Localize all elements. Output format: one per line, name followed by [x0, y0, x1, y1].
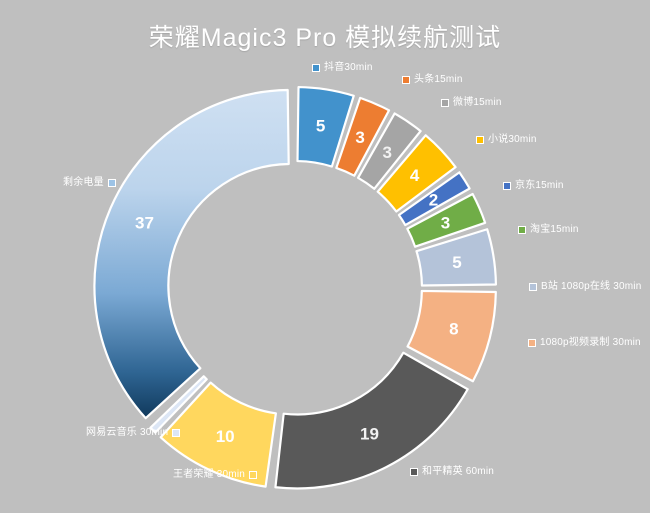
legend-swatch-taobao	[518, 226, 526, 234]
legend-item-novel[interactable]: 小说30min	[476, 135, 537, 145]
slice-value-remaining: 37	[135, 213, 154, 232]
slice-remaining[interactable]	[94, 90, 288, 418]
legend-swatch-douyin	[312, 64, 320, 72]
slice-value-toutiao: 3	[355, 128, 364, 147]
legend-label-novel: 小说30min	[488, 135, 537, 145]
legend-label-netease-music: 网易云音乐 30min	[86, 428, 168, 438]
slice-value-pubg: 19	[360, 425, 379, 444]
legend-swatch-honor-of-kings	[249, 471, 257, 479]
slice-value-douyin: 5	[316, 117, 325, 136]
legend-swatch-record	[528, 339, 536, 347]
legend-label-honor-of-kings: 王者荣耀 30min	[173, 470, 245, 480]
legend-swatch-jd	[503, 182, 511, 190]
legend-swatch-pubg	[410, 468, 418, 476]
legend-item-douyin[interactable]: 抖音30min	[312, 63, 373, 73]
legend-item-toutiao[interactable]: 头条15min	[402, 75, 463, 85]
legend-item-weibo[interactable]: 微博15min	[441, 98, 502, 108]
legend-label-bilibili: B站 1080p在线 30min	[541, 282, 641, 292]
slice-value-bilibili: 5	[452, 253, 461, 272]
chart-canvas: 荣耀Magic3 Pro 模拟续航测试 53342358191037 抖音30m…	[0, 0, 650, 513]
slice-value-novel: 4	[410, 166, 420, 185]
legend-item-netease-music[interactable]: 网易云音乐 30min	[86, 428, 180, 438]
slice-value-taobao: 3	[441, 213, 450, 232]
legend-item-jd[interactable]: 京东15min	[503, 181, 564, 191]
slice-value-jd: 2	[429, 191, 438, 210]
legend-item-record[interactable]: 1080p视频录制 30min	[528, 338, 641, 348]
legend-item-remaining[interactable]: 剩余电量	[63, 178, 116, 188]
legend-label-record: 1080p视频录制 30min	[540, 338, 641, 348]
legend-swatch-novel	[476, 136, 484, 144]
legend-swatch-toutiao	[402, 76, 410, 84]
legend-swatch-bilibili	[529, 283, 537, 291]
legend-swatch-weibo	[441, 99, 449, 107]
legend-item-honor-of-kings[interactable]: 王者荣耀 30min	[173, 470, 257, 480]
slice-value-weibo: 3	[382, 143, 391, 162]
legend-item-taobao[interactable]: 淘宝15min	[518, 225, 579, 235]
legend-label-pubg: 和平精英 60min	[422, 467, 494, 477]
legend-item-pubg[interactable]: 和平精英 60min	[410, 467, 494, 477]
legend-label-toutiao: 头条15min	[414, 75, 463, 85]
legend-label-remaining: 剩余电量	[63, 178, 104, 188]
legend-item-bilibili[interactable]: B站 1080p在线 30min	[529, 282, 641, 292]
legend-swatch-remaining	[108, 179, 116, 187]
legend-label-taobao: 淘宝15min	[530, 225, 579, 235]
legend-label-douyin: 抖音30min	[324, 63, 373, 73]
slice-value-honor_of_kings: 10	[216, 427, 235, 446]
legend-swatch-netease-music	[172, 429, 180, 437]
legend-label-jd: 京东15min	[515, 181, 564, 191]
legend-label-weibo: 微博15min	[453, 98, 502, 108]
slice-value-record: 8	[449, 319, 458, 338]
